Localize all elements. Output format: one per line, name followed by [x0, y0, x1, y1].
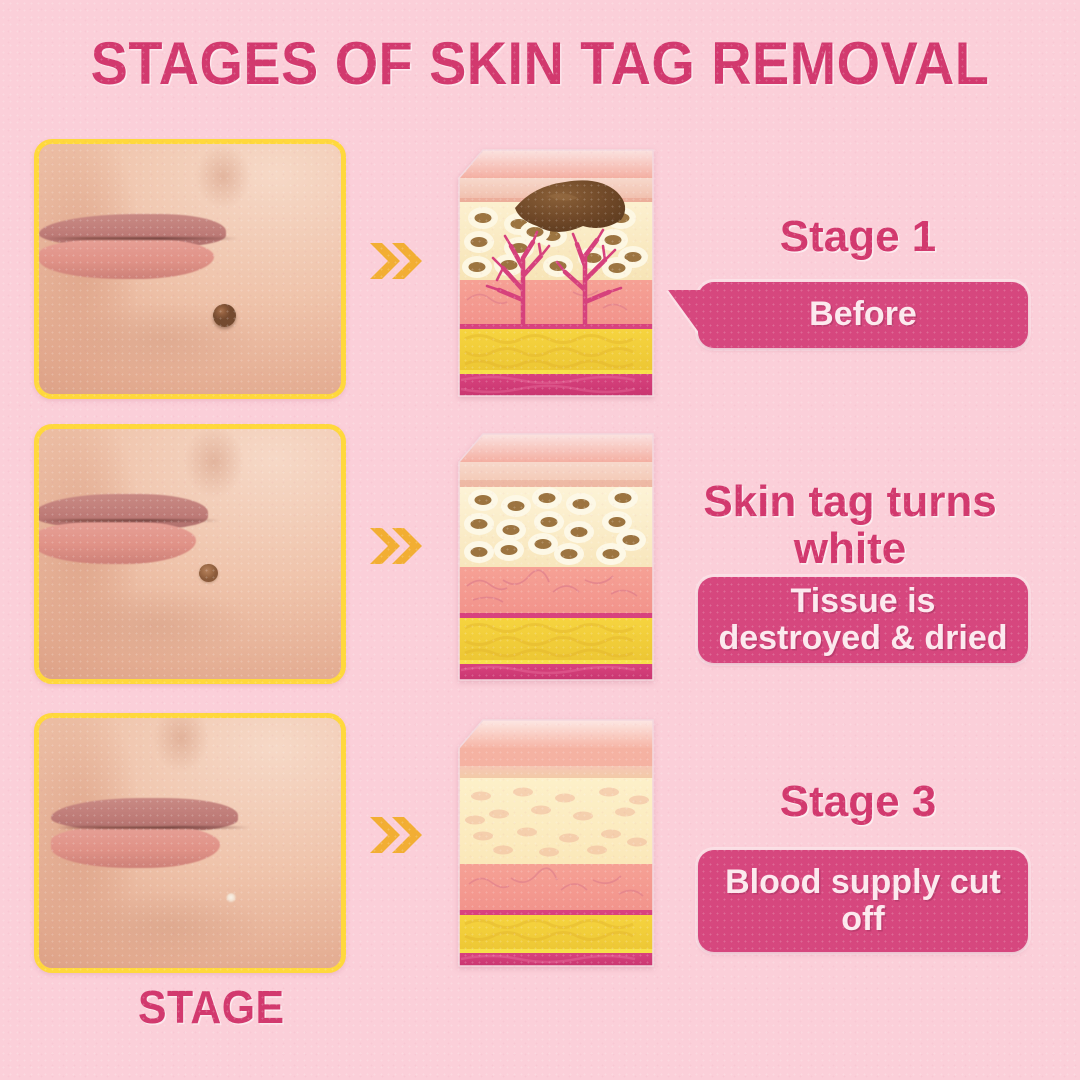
- photo-card-stage-2: [34, 424, 346, 684]
- row-heading-3: Stage 3: [678, 778, 1038, 825]
- banner-tail-icon-1: [668, 290, 700, 334]
- double-chevron-right-icon-3: [366, 812, 422, 858]
- chin-shadow-2: [51, 584, 262, 674]
- chin-shadow-1: [57, 299, 268, 389]
- row-heading-2: Skin tag turns white: [670, 478, 1030, 572]
- row-banner-3: Blood supply cut off: [698, 850, 1028, 952]
- chin-shadow-3: [63, 888, 274, 973]
- double-chevron-right-icon-1: [366, 238, 422, 284]
- page-title: STAGES OF SKIN TAG REMOVAL: [38, 34, 1042, 94]
- photo-card-stage-3: [34, 713, 346, 973]
- skin-cross-section-stage-3: [453, 708, 659, 968]
- healed-spot-3: [226, 893, 237, 904]
- row-banner-2: Tissue is destroyed & dried: [698, 577, 1028, 663]
- philtrum-2: [172, 424, 257, 504]
- lip-line-2: [39, 519, 220, 522]
- infographic-poster: STAGES OF SKIN TAG REMOVAL: [0, 0, 1080, 1080]
- philtrum-1: [184, 139, 263, 214]
- row-heading-1: Stage 1: [678, 213, 1038, 260]
- row-banner-label-3: Blood supply cut off: [714, 864, 1012, 939]
- skin-tag-mole-2: [199, 564, 218, 582]
- lip-line-1: [45, 237, 238, 240]
- lower-lip-3: [51, 826, 220, 869]
- row-banner-1: Before: [698, 282, 1028, 348]
- row-banner-label-1: Before: [809, 296, 917, 333]
- skin-tag-mole-1: [213, 304, 236, 327]
- double-chevron-right-icon-2: [366, 523, 422, 569]
- photo-card-stage-1: [34, 139, 346, 399]
- lip-line-3: [57, 826, 250, 829]
- skin-cross-section-stage-2: [453, 424, 659, 684]
- lower-lip-2: [34, 522, 196, 565]
- bottom-stage-label: STAGE: [138, 980, 285, 1034]
- philtrum-3: [142, 713, 221, 778]
- row-banner-label-2: Tissue is destroyed & dried: [714, 583, 1012, 658]
- lower-lip-1: [39, 239, 214, 279]
- skin-cross-section-stage-1: [453, 140, 659, 400]
